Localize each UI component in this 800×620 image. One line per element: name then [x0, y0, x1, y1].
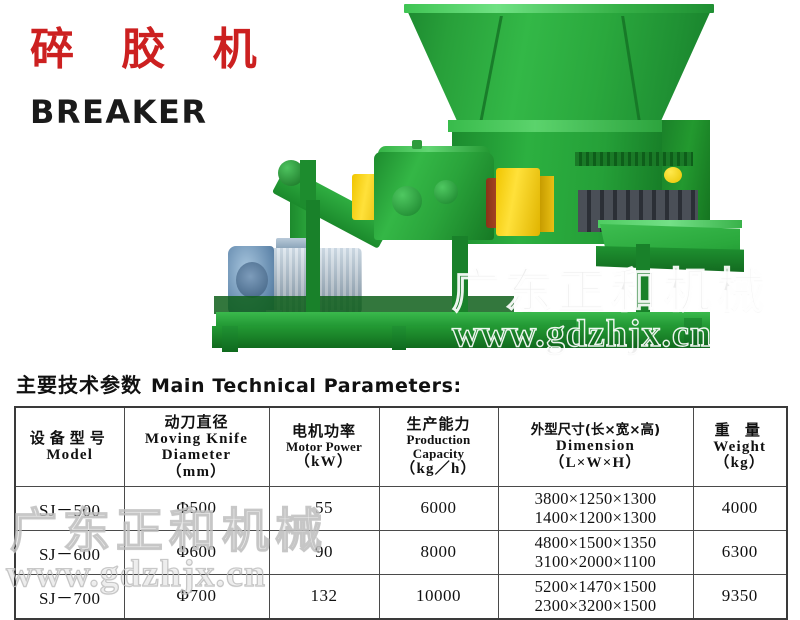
crusher-housing-top: [448, 120, 666, 132]
cell-capacity: 10000: [379, 574, 498, 618]
table-row: SJ－600 Φ600 90 8000 4800×1500×1350 3100×…: [15, 530, 787, 574]
cell-dimension: 4800×1500×1350 3100×2000×1100: [498, 530, 693, 574]
frame-post-left: [306, 200, 320, 314]
base-leg-1: [222, 326, 238, 352]
page-title-en: BREAKER: [30, 96, 207, 128]
cell-weight: 6300: [693, 530, 787, 574]
base-leg-4: [684, 318, 702, 348]
section-heading-cn: 主要技术参数: [16, 369, 142, 398]
col-header-weight: 重 量 Weight （kg）: [693, 407, 787, 487]
coupling-guard-edge: [540, 176, 554, 232]
table-row: SJ－700 Φ700 132 10000 5200×1470×1500 230…: [15, 574, 787, 618]
cell-weight: 4000: [693, 487, 787, 531]
frame-post-right: [636, 244, 650, 316]
section-heading: 主要技术参数 Main Technical Parameters:: [16, 369, 462, 398]
discharge-chute-side: [596, 246, 744, 272]
base-leg-3: [560, 320, 576, 348]
frame-post-mid: [452, 236, 468, 314]
gearbox-boss-large: [392, 186, 422, 216]
gearbox-boss-small: [434, 180, 458, 204]
cell-model: SJ－700: [15, 574, 124, 618]
cell-capacity: 8000: [379, 530, 498, 574]
table-row: SJ－500 Φ500 55 6000 3800×1250×1300 1400×…: [15, 487, 787, 531]
base-frame-face: [212, 326, 710, 348]
page-title-cn: 碎 胶 机: [30, 28, 273, 72]
col-header-capacity: 生产能力 Production Capacity （kg／h）: [379, 407, 498, 487]
adjust-knob: [664, 167, 682, 183]
cell-weight: 9350: [693, 574, 787, 618]
cell-motor-power: 132: [269, 574, 379, 618]
cell-knife-diameter: Φ700: [124, 574, 269, 618]
hopper-front-panel: [406, 8, 712, 130]
cell-model: SJ－600: [15, 530, 124, 574]
spec-table: 设备型号 Model 动刀直径 Moving Knife Diameter （m…: [14, 406, 788, 620]
col-header-dimension: 外型尺寸(长×宽×高) Dimension （L×W×H）: [498, 407, 693, 487]
col-header-motor-power: 电机功率 Motor Power （kW）: [269, 407, 379, 487]
col-header-model: 设备型号 Model: [15, 407, 124, 487]
cell-model: SJ－500: [15, 487, 124, 531]
cell-knife-diameter: Φ600: [124, 530, 269, 574]
spec-table-wrapper: 设备型号 Model 动刀直径 Moving Knife Diameter （m…: [14, 406, 786, 620]
cell-knife-diameter: Φ500: [124, 487, 269, 531]
cell-motor-power: 55: [269, 487, 379, 531]
motor-fan-center: [236, 262, 268, 298]
cell-dimension: 5200×1470×1500 2300×3200×1500: [498, 574, 693, 618]
fixed-comb-teeth: [575, 152, 693, 166]
section-heading-en: Main Technical Parameters:: [151, 375, 462, 397]
gearbox-breather: [412, 140, 422, 149]
cell-capacity: 6000: [379, 487, 498, 531]
coupling-guard-right: [496, 168, 540, 236]
col-header-knife-diameter: 动刀直径 Moving Knife Diameter （mm）: [124, 407, 269, 487]
base-leg-2: [392, 326, 406, 350]
cell-motor-power: 90: [269, 530, 379, 574]
table-header-row: 设备型号 Model 动刀直径 Moving Knife Diameter （m…: [15, 407, 787, 487]
cell-dimension: 3800×1250×1300 1400×1200×1300: [498, 487, 693, 531]
hopper-rim: [404, 4, 714, 13]
